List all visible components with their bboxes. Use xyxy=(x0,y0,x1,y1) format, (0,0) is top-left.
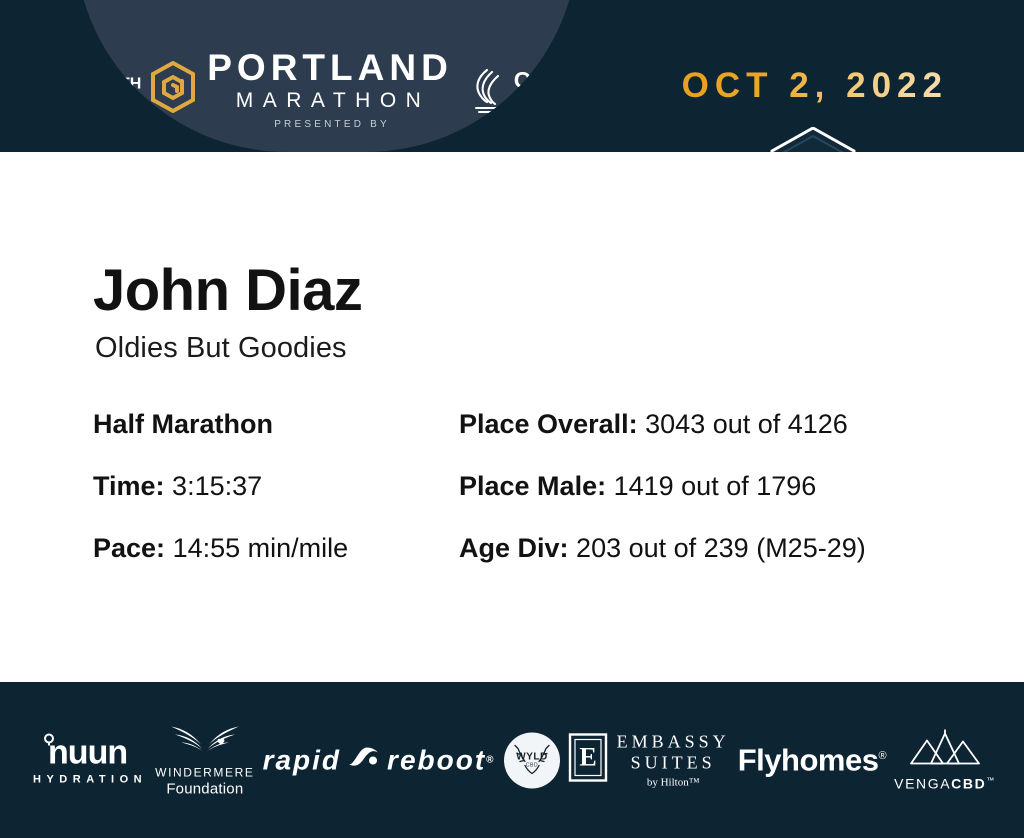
stat-value: 3043 out of 4126 xyxy=(645,409,848,439)
stat-label: Age Div: xyxy=(459,533,569,563)
anniversary-mark: 50TH xyxy=(75,66,141,112)
wyld-sub: CBD xyxy=(525,762,537,768)
sponsor-nuun: nuun HYDRATION xyxy=(28,735,147,785)
sponsor-venga-cbd: VENGACBD™ xyxy=(894,729,996,791)
race-certificate: 50TH PORTLAND MARATHON xyxy=(0,0,1024,838)
stat-label: Pace: xyxy=(93,533,165,563)
ohsu-health-logo: OHSU Health xyxy=(467,67,578,118)
results-stats: Half Marathon Time: 3:15:37 Pace: 14:55 … xyxy=(93,411,1024,562)
results-column-left: Half Marathon Time: 3:15:37 Pace: 14:55 … xyxy=(93,411,459,562)
sponsor-logos: nuun HYDRATION xyxy=(0,723,1024,798)
ohsu-flame-icon xyxy=(467,67,507,118)
event-title-portland: PORTLAND xyxy=(207,49,453,88)
stat-value: 203 out of 239 (M25-29) xyxy=(576,533,866,563)
event-title: PORTLAND MARATHON PRESENTED BY xyxy=(207,49,453,130)
venga-name-b: CBD xyxy=(951,775,986,791)
results-panel: John Diaz Oldies But Goodies Half Marath… xyxy=(0,152,1024,682)
stat-label: Half Marathon xyxy=(93,409,273,439)
ohsu-sub: Health xyxy=(514,94,578,115)
athlete-team: Oldies But Goodies xyxy=(95,332,1024,365)
rapid-reboot-wordmark: rapid reboot® xyxy=(263,744,496,777)
sponsor-embassy-suites: E EMBASSY SUITES by Hilton™ xyxy=(568,732,730,788)
venga-mountains-icon xyxy=(907,729,983,772)
embassy-suites-logo: E EMBASSY SUITES by Hilton™ xyxy=(568,732,730,788)
embassy-line3: by Hilton™ xyxy=(647,776,700,788)
stat-value: 14:55 min/mile xyxy=(173,533,349,563)
sponsor-rapid-reboot: rapid reboot® xyxy=(263,744,496,777)
embassy-suites-wordmark: EMBASSY SUITES by Hilton™ xyxy=(617,732,730,788)
embassy-line1: EMBASSY xyxy=(617,732,730,753)
flyhomes-name: Flyhomes xyxy=(738,742,879,777)
stat-value: 3:15:37 xyxy=(172,471,262,501)
rapid-reboot-name-a: rapid xyxy=(263,744,341,776)
ohsu-wordmark: OHSU Health xyxy=(514,69,578,115)
rapid-reboot-swoosh-icon xyxy=(347,744,381,777)
event-logo-panel: 50TH PORTLAND MARATHON xyxy=(75,0,578,152)
sponsor-flyhomes: Flyhomes® xyxy=(738,742,886,778)
windermere-wings-icon xyxy=(169,723,241,762)
nuun-wordmark: nuun xyxy=(48,735,127,769)
anniversary-suffix: TH xyxy=(120,76,141,93)
embassy-suites-crest-icon: E xyxy=(568,733,608,788)
rapid-reboot-name-b: reboot xyxy=(387,744,486,776)
windermere-name: WINDERMERE xyxy=(155,766,254,780)
stat-time: Time: 3:15:37 xyxy=(93,473,459,500)
stat-value: 1419 out of 1796 xyxy=(614,471,817,501)
embassy-line2: SUITES xyxy=(631,753,716,774)
header-band: 50TH PORTLAND MARATHON xyxy=(0,0,1024,152)
event-logo-row: 50TH PORTLAND MARATHON xyxy=(75,49,578,130)
nuun-drop-icon xyxy=(42,732,56,751)
athlete-name: John Diaz xyxy=(93,262,1024,320)
stat-place-overall: Place Overall: 3043 out of 4126 xyxy=(459,411,979,438)
stat-race-distance: Half Marathon xyxy=(93,411,459,438)
flyhomes-trademark: ® xyxy=(878,750,886,762)
anniversary-number: 50 xyxy=(75,63,120,115)
stat-label: Time: xyxy=(93,471,165,501)
venga-wordmark: VENGACBD™ xyxy=(894,775,996,791)
results-content: John Diaz Oldies But Goodies Half Marath… xyxy=(0,152,1024,562)
venga-trademark: ™ xyxy=(986,775,996,784)
venga-name-a: VENGA xyxy=(894,775,951,791)
event-title-marathon: MARATHON xyxy=(230,88,431,114)
sponsor-windermere: WINDERMERE Foundation xyxy=(155,723,254,798)
wyld-antlers-icon: WYLD CBD xyxy=(504,732,560,788)
windermere-sub: Foundation xyxy=(166,781,243,798)
flyhomes-wordmark: Flyhomes® xyxy=(738,742,886,778)
rapid-reboot-trademark: ® xyxy=(486,755,495,766)
race-date: OCT 2, 2022 xyxy=(682,66,948,106)
ohsu-name: OHSU xyxy=(514,69,578,92)
svg-text:E: E xyxy=(579,743,596,772)
hexagon-spiral-icon xyxy=(149,61,197,118)
results-column-right: Place Overall: 3043 out of 4126 Place Ma… xyxy=(459,411,979,562)
nuun-tagline: HYDRATION xyxy=(28,773,147,785)
stat-age-division: Age Div: 203 out of 239 (M25-29) xyxy=(459,535,979,562)
stat-pace: Pace: 14:55 min/mile xyxy=(93,535,459,562)
sponsor-wyld: WYLD CBD xyxy=(504,732,560,788)
stat-place-male: Place Male: 1419 out of 1796 xyxy=(459,473,979,500)
presented-by-label: PRESENTED BY xyxy=(270,119,390,130)
sponsor-footer: nuun HYDRATION xyxy=(0,682,1024,838)
stat-label: Place Male: xyxy=(459,471,606,501)
stat-label: Place Overall: xyxy=(459,409,638,439)
wyld-name: WYLD xyxy=(516,751,547,762)
